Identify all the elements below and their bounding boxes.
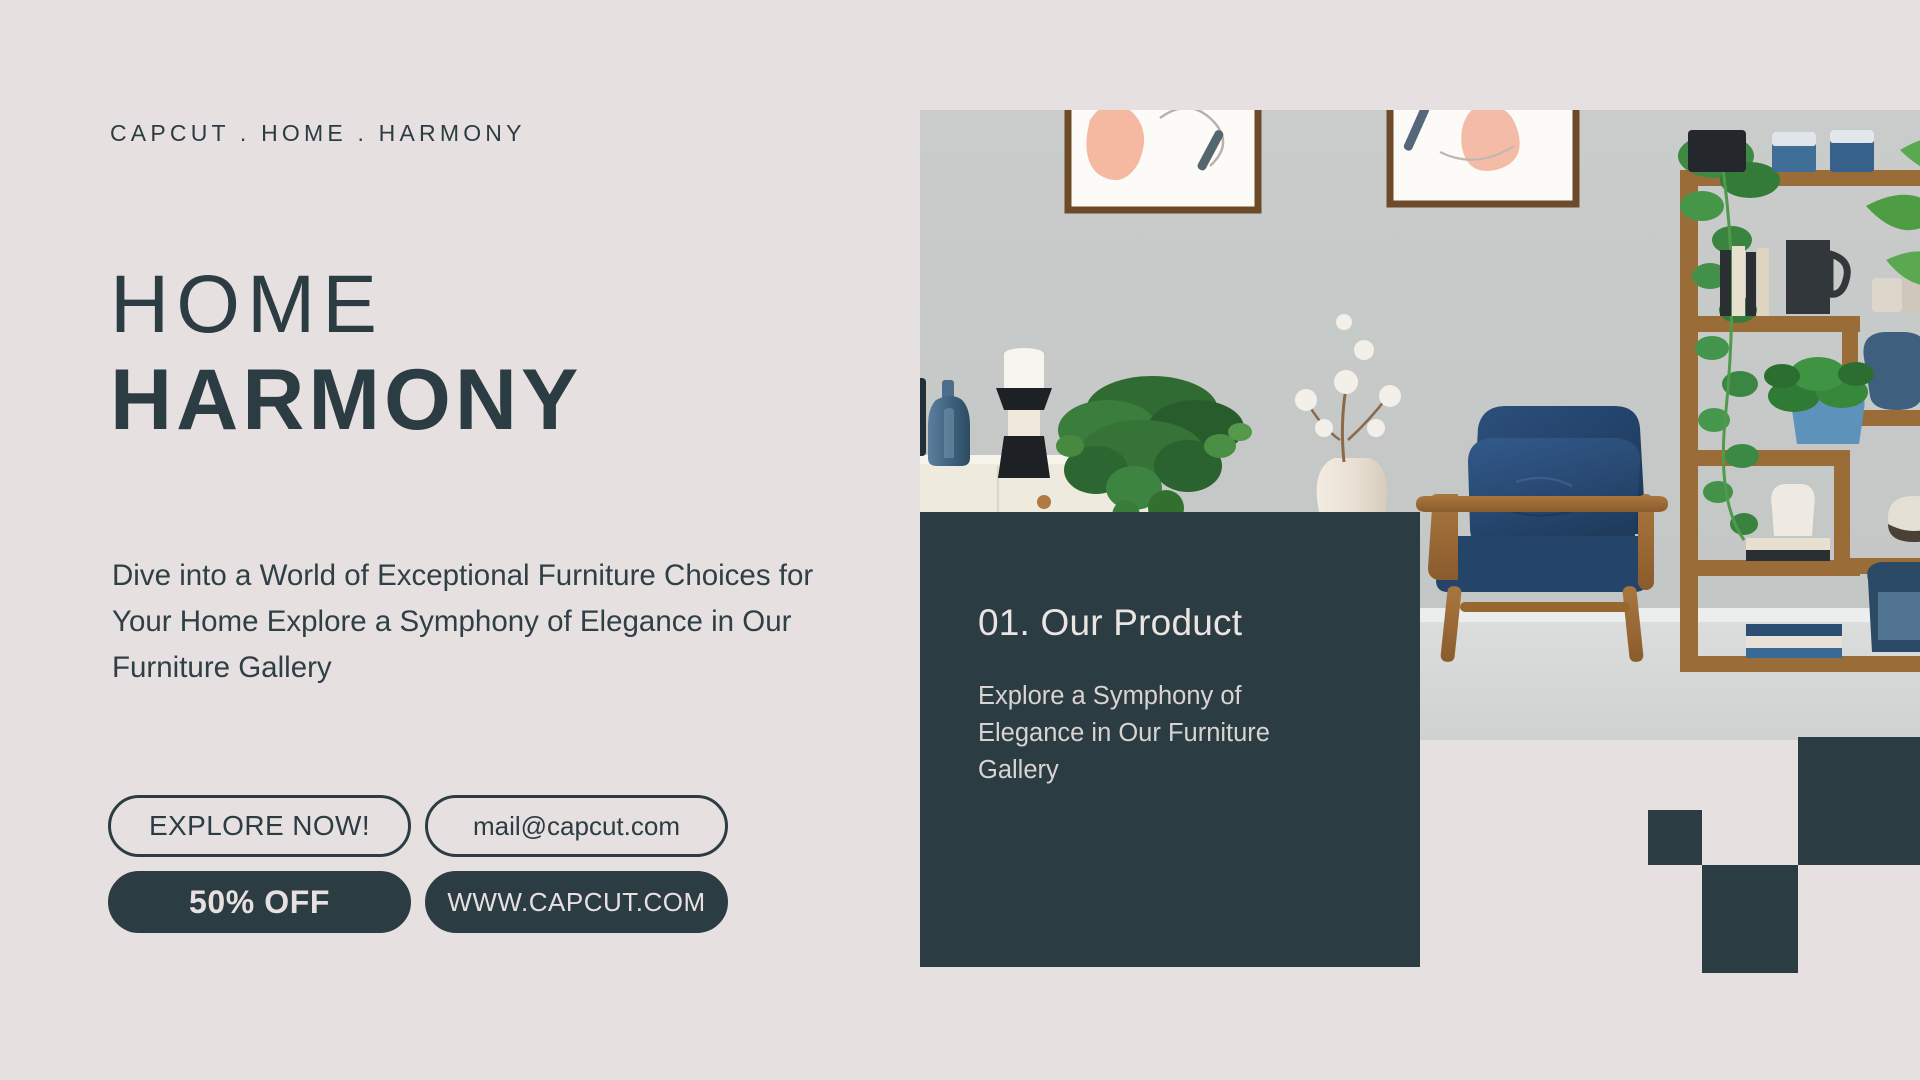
poster-canvas: CAPCUT . HOME . HARMONY HOME HARMONY Div…: [0, 0, 1920, 1080]
discount-badge-button[interactable]: 50% OFF: [108, 871, 411, 933]
website-button[interactable]: WWW.CAPCUT.COM: [425, 871, 728, 933]
feature-card-body: Explore a Symphony of Elegance in Our Fu…: [978, 678, 1350, 789]
title-line-home: HOME: [110, 262, 582, 348]
cta-row-secondary: 50% OFF WWW.CAPCUT.COM: [108, 871, 728, 933]
email-button[interactable]: mail@capcut.com: [425, 795, 728, 857]
cta-row-primary: EXPLORE NOW! mail@capcut.com: [108, 795, 728, 857]
cta-button-group: EXPLORE NOW! mail@capcut.com 50% OFF WWW…: [108, 795, 728, 947]
decorative-square-medium: [1702, 865, 1798, 973]
feature-card-title: 01. Our Product: [978, 602, 1360, 644]
title-line-harmony: HARMONY: [110, 354, 582, 446]
explore-now-button[interactable]: EXPLORE NOW!: [108, 795, 411, 857]
decorative-square-large: [1798, 737, 1920, 865]
hero-description: Dive into a World of Exceptional Furnitu…: [112, 553, 852, 691]
decorative-square-small: [1648, 810, 1702, 865]
page-title: HOME HARMONY: [110, 262, 582, 446]
breadcrumb: CAPCUT . HOME . HARMONY: [110, 120, 526, 147]
feature-card: 01. Our Product Explore a Symphony of El…: [920, 512, 1420, 967]
